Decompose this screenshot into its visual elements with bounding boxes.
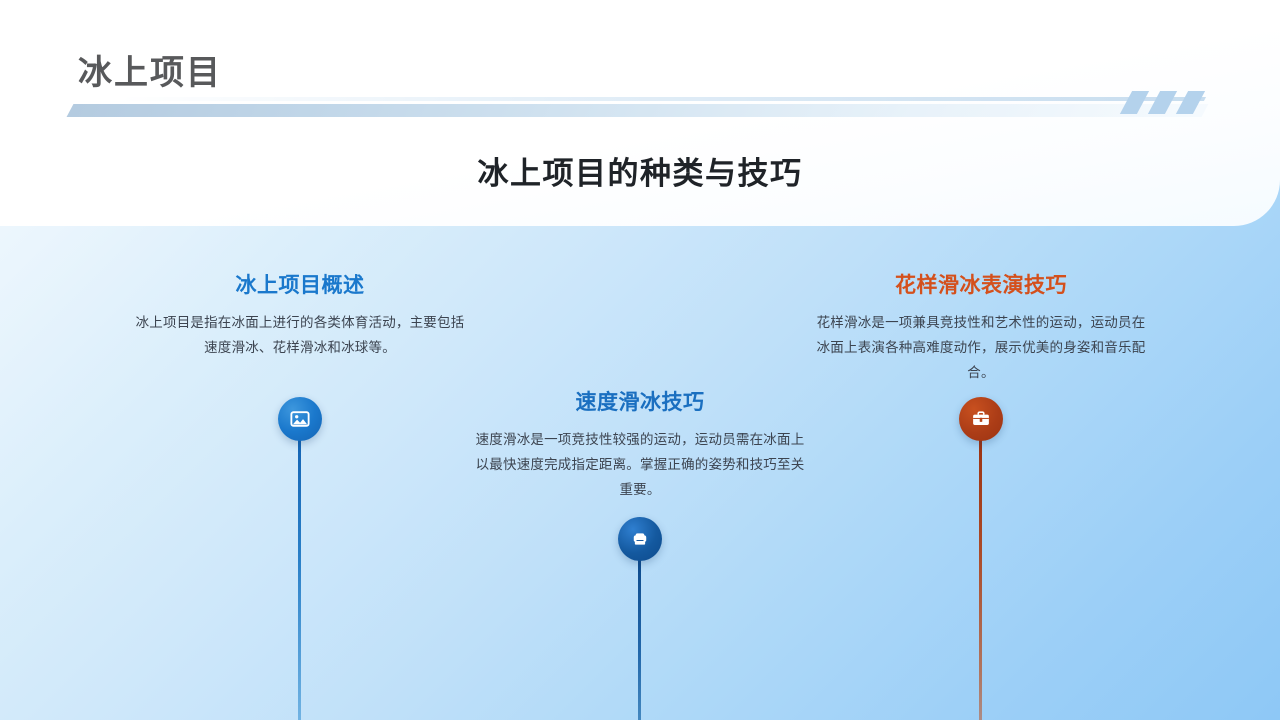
item-connector-line-1 bbox=[298, 438, 301, 720]
item-marker-2[interactable] bbox=[618, 517, 662, 561]
item-title-1: 冰上项目概述 bbox=[135, 272, 465, 299]
item-card-2: 速度滑冰技巧 速度滑冰是一项竞技性较强的运动，运动员需在冰面上以最快速度完成指定… bbox=[470, 389, 810, 503]
header-accent-bar bbox=[67, 104, 1209, 117]
item-marker-3[interactable] bbox=[959, 397, 1003, 441]
slash-shape-2 bbox=[1148, 91, 1177, 114]
item-title-3: 花样滑冰表演技巧 bbox=[811, 272, 1151, 299]
item-body-3: 花样滑冰是一项兼具竞技性和艺术性的运动，运动员在冰面上表演各种高难度动作，展示优… bbox=[811, 311, 1151, 386]
item-body-1: 冰上项目是指在冰面上进行的各类体育活动，主要包括速度滑冰、花样滑冰和冰球等。 bbox=[135, 311, 465, 361]
page-title: 冰上项目 bbox=[78, 53, 222, 94]
item-body-2: 速度滑冰是一项竞技性较强的运动，运动员需在冰面上以最快速度完成指定距离。掌握正确… bbox=[470, 428, 810, 503]
image-icon bbox=[289, 408, 311, 430]
item-card-1: 冰上项目概述 冰上项目是指在冰面上进行的各类体育活动，主要包括速度滑冰、花样滑冰… bbox=[135, 272, 465, 361]
item-connector-line-3 bbox=[979, 438, 982, 720]
armchair-icon bbox=[629, 528, 651, 550]
three-slash-decoration-icon bbox=[1126, 91, 1210, 115]
item-card-3: 花样滑冰表演技巧 花样滑冰是一项兼具竞技性和艺术性的运动，运动员在冰面上表演各种… bbox=[811, 272, 1151, 386]
header-accent-line bbox=[119, 97, 1206, 101]
item-connector-line-2 bbox=[638, 558, 641, 720]
slash-shape-3 bbox=[1176, 91, 1205, 114]
item-title-2: 速度滑冰技巧 bbox=[470, 389, 810, 416]
item-marker-1[interactable] bbox=[278, 397, 322, 441]
slide-canvas: 冰上项目 冰上项目的种类与技巧 冰上项目概述 冰上项目是指在冰面上进行的各类体育… bbox=[0, 0, 1280, 720]
section-heading: 冰上项目的种类与技巧 bbox=[0, 148, 1280, 193]
briefcase-icon bbox=[970, 408, 992, 430]
